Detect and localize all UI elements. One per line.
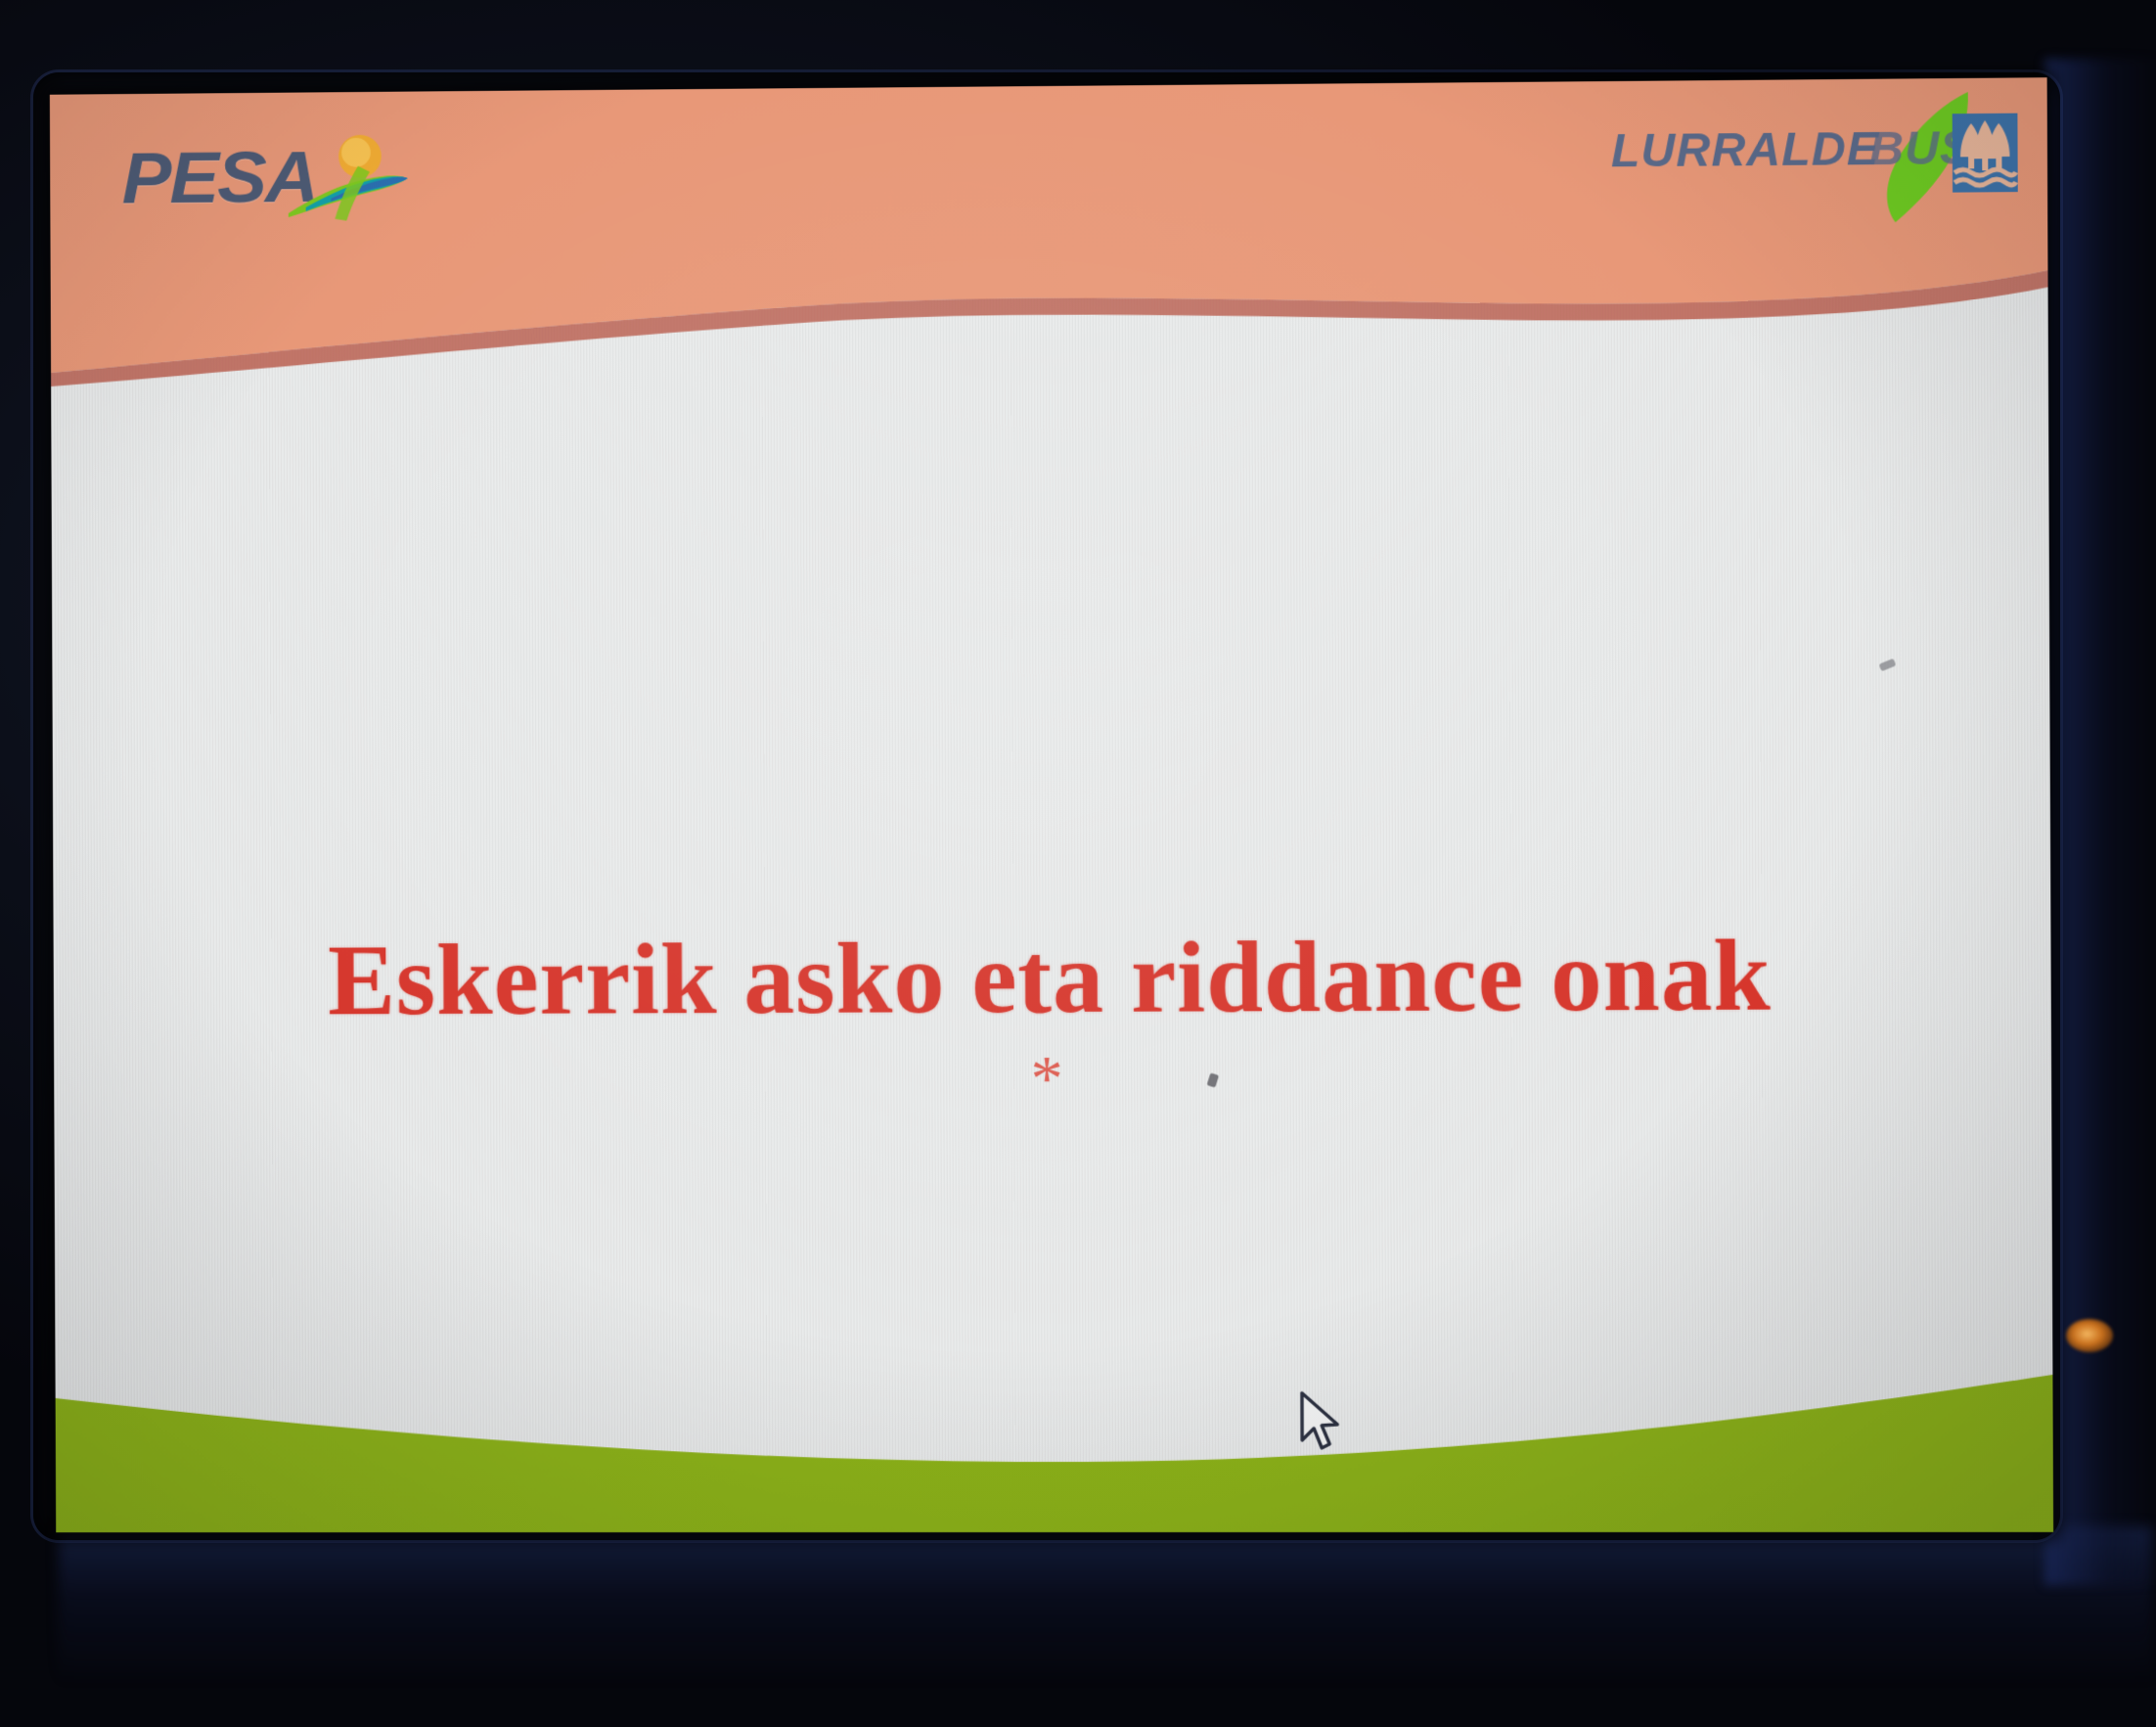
footer-band	[55, 1345, 2053, 1532]
mouse-cursor-icon	[1294, 1387, 1347, 1458]
pesa-sun-swoosh-icon	[280, 132, 408, 221]
bezel-right-sheen	[2044, 59, 2156, 1585]
asterisk-mark: *	[54, 1044, 2051, 1114]
lurraldebus-logo: LURRALDE BUS	[1611, 126, 1879, 175]
lcd-screen: PESA	[50, 77, 2053, 1532]
lurralde-wordmark: LURRALDE	[1611, 126, 1879, 175]
footer-curve-shape	[55, 1345, 2053, 1532]
main-content: Eskerrik asko eta riddance onak *	[51, 373, 2052, 1398]
gipuzkoa-coat-of-arms-icon	[1951, 112, 2020, 195]
bezel-bottom-sheen	[59, 1526, 2152, 1683]
kiosk-photo: PESA	[0, 0, 2156, 1727]
amber-status-led-icon	[2066, 1319, 2113, 1352]
page-title: Eskerrik asko eta riddance onak	[54, 924, 2051, 1032]
pesa-logo: PESA	[125, 132, 408, 222]
